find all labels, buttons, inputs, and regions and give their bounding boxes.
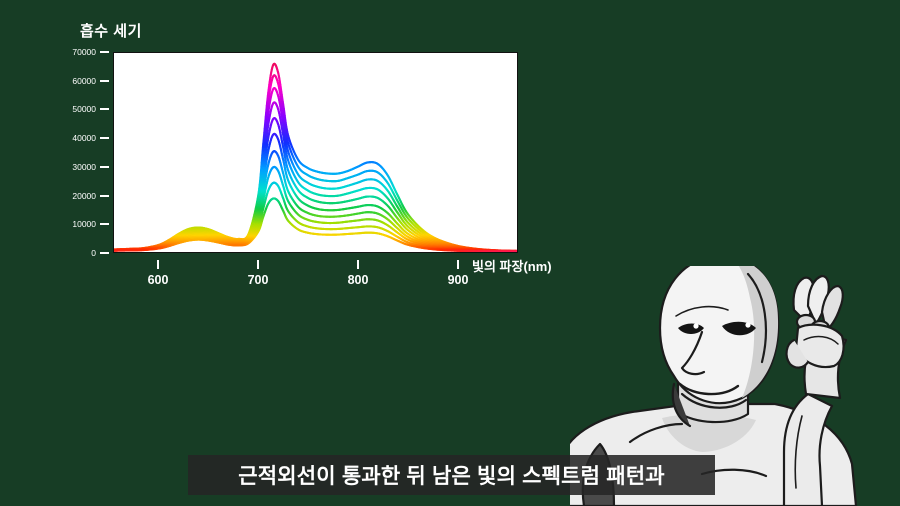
x-axis-tick-label: 900 — [448, 273, 469, 287]
y-axis-tick-label: 40000 — [52, 133, 96, 143]
y-axis-tick-label: 70000 — [52, 47, 96, 57]
x-axis-tick-mark — [157, 260, 159, 269]
screen-canvas: 흡수 세기 0100002000030000400005000060000700… — [0, 0, 900, 506]
x-axis-label: 빛의 파장(nm) — [472, 256, 552, 275]
spectrum-curve — [114, 64, 517, 251]
spectrum-chart: 흡수 세기 0100002000030000400005000060000700… — [0, 0, 600, 300]
x-axis-tick-label: 700 — [248, 273, 269, 287]
subtitle-bar: 근적외선이 통과한 뒤 남은 빛의 스펙트럼 패턴과 — [188, 455, 715, 495]
y-axis-tick-label: 50000 — [52, 104, 96, 114]
x-axis-tick-label: 600 — [148, 273, 169, 287]
spectrum-curve — [114, 75, 517, 251]
y-axis-tick-label: 20000 — [52, 191, 96, 201]
x-axis-tick-label: 800 — [348, 273, 369, 287]
y-axis-tick-label: 10000 — [52, 219, 96, 229]
y-axis-tick-mark — [100, 137, 109, 139]
y-axis-tick-mark — [100, 51, 109, 53]
x-axis-tick-mark — [457, 260, 459, 269]
y-axis-tick-mark — [100, 252, 109, 254]
y-axis-tick-mark — [100, 166, 109, 168]
y-axis-tick-label: 0 — [52, 248, 96, 258]
y-axis-tick-mark — [100, 195, 109, 197]
chart-title: 흡수 세기 — [80, 20, 142, 41]
y-axis-tick-label: 60000 — [52, 76, 96, 86]
subtitle-text: 근적외선이 통과한 뒤 남은 빛의 스펙트럼 패턴과 — [238, 460, 665, 490]
plot-area — [113, 52, 518, 253]
y-axis-tick-mark — [100, 108, 109, 110]
x-axis-tick-mark — [357, 260, 359, 269]
spectrum-curve — [114, 88, 517, 251]
y-axis-tick-mark — [100, 223, 109, 225]
y-axis-tick-label: 30000 — [52, 162, 96, 172]
spectrum-curve — [114, 118, 517, 251]
x-axis-tick-mark — [257, 260, 259, 269]
y-axis-tick-mark — [100, 80, 109, 82]
spectrum-curve — [114, 198, 517, 251]
spectrum-curves — [114, 53, 517, 252]
